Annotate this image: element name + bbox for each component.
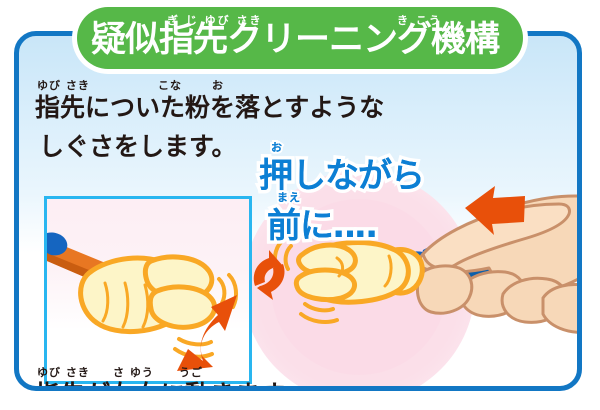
outer-frame: ゆび さき こな お 指先についた粉を落とすような しぐさをします。 お お 押… <box>14 31 582 391</box>
inset-illustration <box>47 199 249 381</box>
title-text: 疑似指先クリーニング機構 <box>72 9 518 71</box>
frame-inner: ゆび さき こな お 指先についた粉を落とすような しぐさをします。 お お 押… <box>19 36 577 386</box>
wiggle-arrow-center <box>254 250 285 302</box>
inset-grip <box>47 232 67 255</box>
callout-line-2: 前に‥‥ <box>267 198 376 247</box>
title-banner: ぎ じ ゆび さき き こう 疑似指先クリーニング機構 <box>72 2 528 74</box>
inset-panel <box>44 196 252 384</box>
description-line-1: 指先についた粉を落とすような <box>35 88 384 124</box>
caption-text: 指先が左右に動きます。 <box>35 375 308 386</box>
cartoon-fingertip-mechanism <box>296 243 422 303</box>
description-line-2: しぐさをします。 <box>39 127 237 163</box>
figure-root: ゆび さき こな お 指先についた粉を落とすような しぐさをします。 お お 押… <box>0 0 600 410</box>
inset-cartoon-hand <box>81 257 215 332</box>
